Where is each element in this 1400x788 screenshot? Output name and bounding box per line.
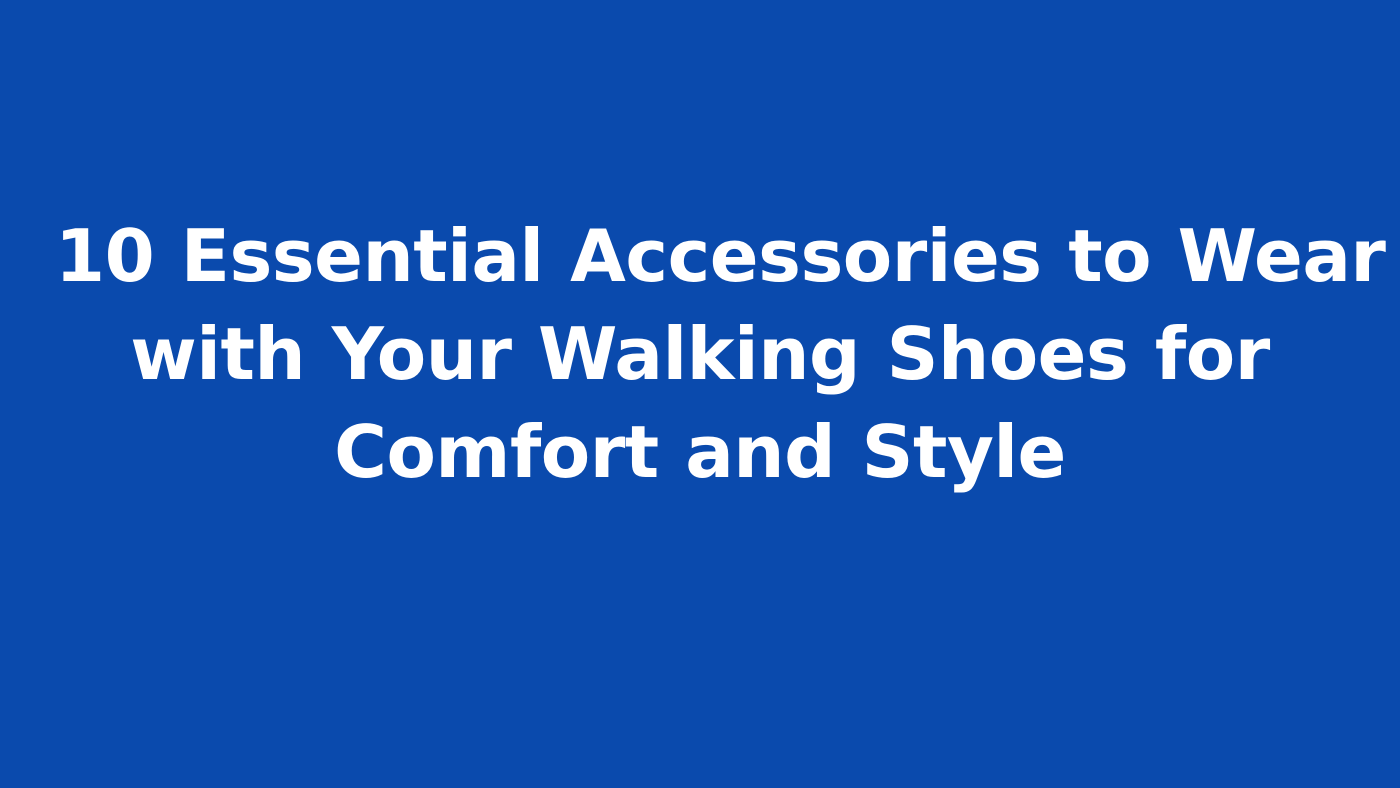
headline-line-1: 10 Essential Accessories to Wear [55,207,1345,305]
page-title: 10 Essential Accessories to Wear with Yo… [55,207,1345,501]
headline-line-3: Comfort and Style [55,403,1345,501]
headline-line-2: with Your Walking Shoes for [55,305,1345,403]
title-card: 10 Essential Accessories to Wear with Yo… [0,0,1400,788]
headline-block: 10 Essential Accessories to Wear with Yo… [55,207,1345,501]
